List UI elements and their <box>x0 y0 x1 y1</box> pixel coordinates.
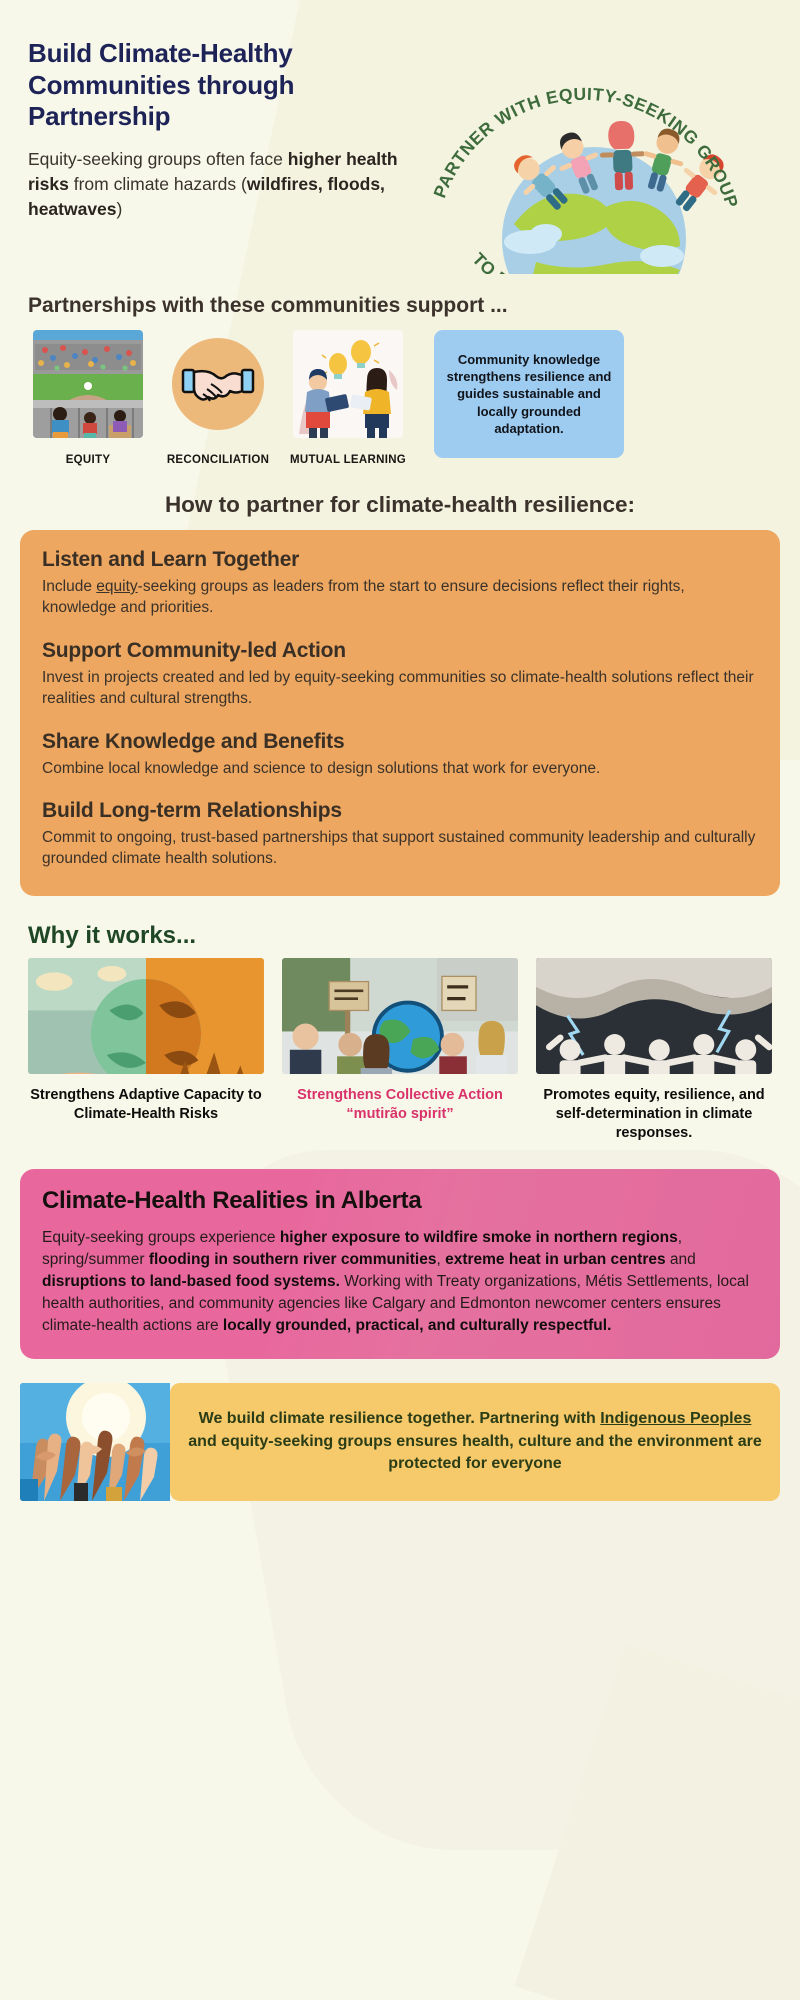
community-knowledge-callout: Community knowledge strengthens resilien… <box>434 330 624 458</box>
why-card-adaptive-capacity: Strengthens Adaptive Capacity to Climate… <box>28 958 264 1124</box>
footer-section: We build climate resilience together. Pa… <box>20 1383 780 1501</box>
header-section: Build Climate-Healthy Communities throug… <box>0 0 800 270</box>
how-to-partner-heading: How to partner for climate-health resili… <box>0 492 800 518</box>
support-item-reconciliation: RECONCILIATION <box>158 330 278 466</box>
step-body: Invest in projects created and led by eq… <box>42 667 758 710</box>
header-subtitle: Equity-seeking groups often face higher … <box>28 147 428 222</box>
page-title: Build Climate-Healthy Communities throug… <box>28 38 428 133</box>
two-people-sharing-ideas-lightbulbs-illustration <box>293 330 403 438</box>
alberta-heading: Climate-Health Realities in Alberta <box>42 1187 758 1215</box>
paper-people-chain-holding-hands-storm-photo <box>536 958 772 1074</box>
why-it-works-row: Strengthens Adaptive Capacity to Climate… <box>0 958 800 1143</box>
how-to-partner-card: Listen and Learn Together Include equity… <box>20 530 780 896</box>
step-build-long-term-relationships: Build Long-term Relationships Commit to … <box>42 799 758 870</box>
children-holding-hands-on-globe-illustration: PARTNER WITH EQUITY-SEEKING GROUPS TO PR… <box>418 24 748 274</box>
step-listen-and-learn: Listen and Learn Together Include equity… <box>42 548 758 619</box>
underlined-term: equity <box>96 578 137 595</box>
header-illustration-block: PARTNER WITH EQUITY-SEEKING GROUPS TO PR… <box>428 30 758 270</box>
alberta-body: Equity-seeking groups experience higher … <box>42 1227 758 1337</box>
support-item-label: EQUITY <box>66 454 111 466</box>
step-title: Support Community-led Action <box>42 639 758 663</box>
step-title: Share Knowledge and Benefits <box>42 730 758 754</box>
header-text-block: Build Climate-Healthy Communities throug… <box>28 30 428 270</box>
why-card-collective-action: Strengthens Collective Action “mutirão s… <box>282 958 518 1124</box>
support-item-equity: EQUITY <box>28 330 148 466</box>
step-body: Include equity-seeking groups as leaders… <box>42 576 758 619</box>
step-title: Build Long-term Relationships <box>42 799 758 823</box>
support-heading: Partnerships with these communities supp… <box>0 294 800 318</box>
why-card-caption: Promotes equity, resilience, and self-de… <box>536 1086 772 1143</box>
step-body: Commit to ongoing, trust-based partnersh… <box>42 827 758 870</box>
step-body: Combine local knowledge and science to d… <box>42 758 758 779</box>
why-card-promotes-equity: Promotes equity, resilience, and self-de… <box>536 958 772 1143</box>
handshake-icon <box>172 338 264 430</box>
why-card-caption: Strengthens Adaptive Capacity to Climate… <box>28 1086 264 1124</box>
support-items-row: EQUITY RECONCILIATION <box>0 330 800 466</box>
equity-baseball-fence-illustration <box>33 330 143 438</box>
why-card-caption: Strengthens Collective Action “mutirão s… <box>282 1086 518 1124</box>
infographic-page: Build Climate-Healthy Communities throug… <box>0 0 800 2000</box>
step-title: Listen and Learn Together <box>42 548 758 572</box>
handshake-icon-wrapper <box>163 330 273 438</box>
support-item-label: MUTUAL LEARNING <box>290 454 406 466</box>
step-support-community-led-action: Support Community-led Action Invest in p… <box>42 639 758 710</box>
footer-message-box: We build climate resilience together. Pa… <box>170 1383 780 1501</box>
climate-protest-crowd-with-globe-photo <box>282 958 518 1074</box>
why-it-works-heading: Why it works... <box>0 922 800 950</box>
footer-message: We build climate resilience together. Pa… <box>188 1408 762 1475</box>
alberta-realities-card: Climate-Health Realities in Alberta Equi… <box>20 1169 780 1359</box>
support-item-label: RECONCILIATION <box>167 454 269 466</box>
hand-holding-split-earth-illustration <box>28 958 264 1074</box>
raised-hands-together-sunlight-photo <box>20 1383 170 1501</box>
support-item-mutual-learning: MUTUAL LEARNING <box>288 330 408 466</box>
step-share-knowledge-and-benefits: Share Knowledge and Benefits Combine loc… <box>42 730 758 779</box>
